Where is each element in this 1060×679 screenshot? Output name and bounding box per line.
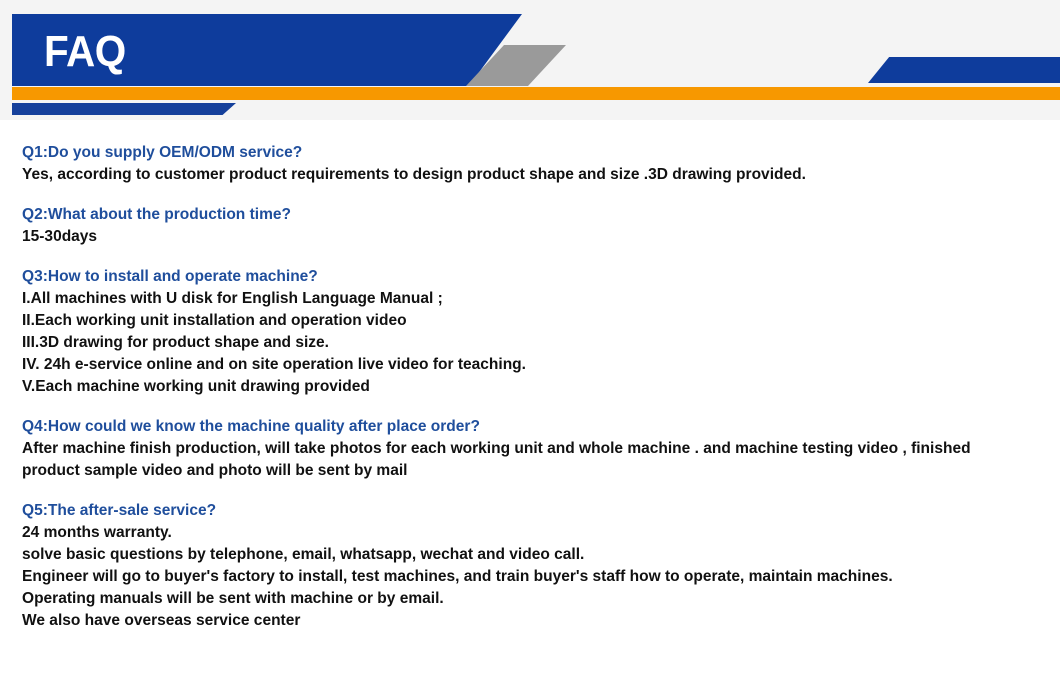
faq-item: Q4:How could we know the machine quality… xyxy=(22,416,1040,482)
faq-answer-line: solve basic questions by telephone, emai… xyxy=(22,544,982,566)
faq-answer-line: We also have overseas service center xyxy=(22,610,982,632)
faq-answer-line: Yes, according to customer product requi… xyxy=(22,164,982,186)
banner-blue-right-shape xyxy=(868,57,1060,83)
faq-page: FAQ Q1:Do you supply OEM/ODM service?Yes… xyxy=(0,0,1060,679)
faq-question: Q3:How to install and operate machine? xyxy=(22,266,1009,288)
faq-answer-line: I.All machines with U disk for English L… xyxy=(22,288,982,310)
faq-item: Q2:What about the production time?15-30d… xyxy=(22,204,1040,248)
banner-orange-rule xyxy=(12,87,1060,100)
faq-answer-line: After machine finish production, will ta… xyxy=(22,438,982,482)
faq-answer-line: Operating manuals will be sent with mach… xyxy=(22,588,982,610)
faq-item: Q5:The after-sale service?24 months warr… xyxy=(22,500,1040,632)
faq-question: Q1:Do you supply OEM/ODM service? xyxy=(22,142,1009,164)
banner-blue-lower-bar xyxy=(12,103,236,115)
faq-item: Q3:How to install and operate machine?I.… xyxy=(22,266,1040,398)
faq-answer-line: 15-30days xyxy=(22,226,982,248)
faq-item: Q1:Do you supply OEM/ODM service?Yes, ac… xyxy=(22,142,1040,186)
faq-content: Q1:Do you supply OEM/ODM service?Yes, ac… xyxy=(0,120,1060,679)
faq-answer-line: V.Each machine working unit drawing prov… xyxy=(22,376,982,398)
faq-answer-line: IV. 24h e-service online and on site ope… xyxy=(22,354,982,376)
faq-answer-line: III.3D drawing for product shape and siz… xyxy=(22,332,982,354)
faq-question: Q5:The after-sale service? xyxy=(22,500,1009,522)
faq-answer-line: II.Each working unit installation and op… xyxy=(22,310,982,332)
header-banner: FAQ xyxy=(0,0,1060,120)
faq-answer-line: 24 months warranty. xyxy=(22,522,982,544)
faq-answer-line: Engineer will go to buyer's factory to i… xyxy=(22,566,982,588)
page-title: FAQ xyxy=(44,28,126,76)
faq-question: Q4:How could we know the machine quality… xyxy=(22,416,1009,438)
faq-question: Q2:What about the production time? xyxy=(22,204,1009,226)
